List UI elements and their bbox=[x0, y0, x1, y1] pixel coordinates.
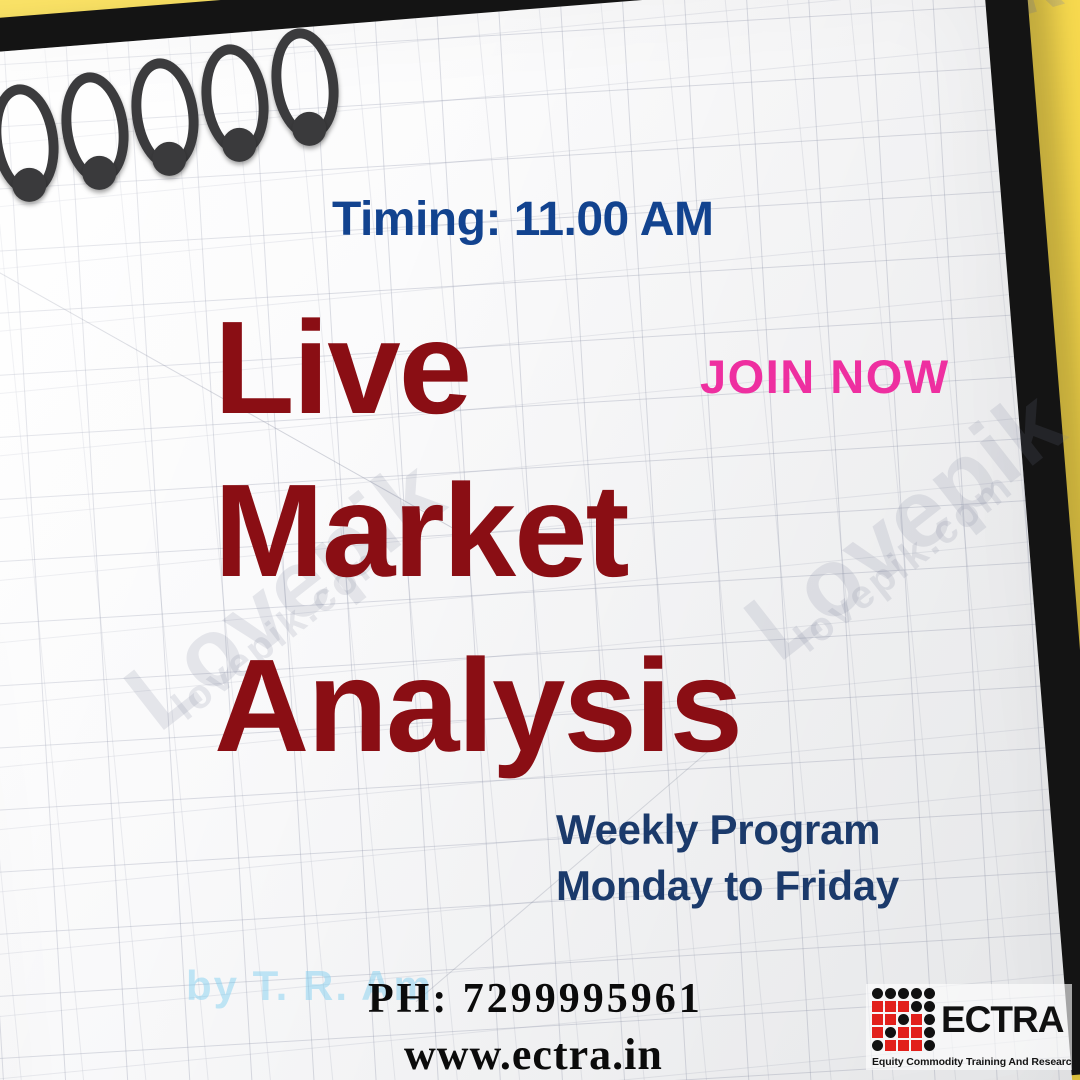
matrix-dot bbox=[924, 1001, 935, 1012]
matrix-dot bbox=[924, 1014, 935, 1025]
matrix-dot bbox=[898, 988, 909, 999]
matrix-square bbox=[872, 1001, 883, 1012]
matrix-square bbox=[898, 1040, 909, 1051]
matrix-square bbox=[911, 1014, 922, 1025]
ectra-logo: ECTRA Equity Commodity Training And Rese… bbox=[866, 984, 1072, 1070]
matrix-dot bbox=[911, 988, 922, 999]
logo-dot-matrix-icon bbox=[872, 988, 935, 1051]
matrix-square bbox=[885, 1040, 896, 1051]
matrix-square bbox=[911, 1040, 922, 1051]
logo-tagline: Equity Commodity Training And Research A… bbox=[872, 1056, 1066, 1068]
matrix-dot bbox=[885, 988, 896, 999]
website-url[interactable]: www.ectra.in bbox=[404, 1029, 663, 1080]
matrix-dot bbox=[898, 1014, 909, 1025]
headline-line-1: Live bbox=[214, 302, 470, 434]
matrix-dot bbox=[924, 1027, 935, 1038]
phone-number[interactable]: PH: 7299995961 bbox=[368, 975, 703, 1023]
headline-line-2: Market bbox=[214, 465, 628, 597]
matrix-dot bbox=[924, 1040, 935, 1051]
matrix-square bbox=[872, 1027, 883, 1038]
join-now-cta[interactable]: JOIN NOW bbox=[700, 349, 950, 404]
matrix-dot bbox=[872, 988, 883, 999]
matrix-square bbox=[898, 1027, 909, 1038]
matrix-dot bbox=[872, 1040, 883, 1051]
matrix-square bbox=[885, 1001, 896, 1012]
subtitle-line-2: Monday to Friday bbox=[556, 862, 899, 910]
logo-wordmark: ECTRA bbox=[941, 1001, 1063, 1038]
matrix-dot bbox=[885, 1027, 896, 1038]
timing-text: Timing: 11.00 AM bbox=[332, 192, 713, 247]
subtitle-line-1: Weekly Program bbox=[556, 806, 880, 854]
matrix-square bbox=[885, 1014, 896, 1025]
matrix-square bbox=[911, 1027, 922, 1038]
matrix-dot bbox=[911, 1001, 922, 1012]
matrix-square bbox=[898, 1001, 909, 1012]
headline-line-3: Analysis bbox=[214, 640, 741, 772]
matrix-dot bbox=[924, 988, 935, 999]
matrix-square bbox=[872, 1014, 883, 1025]
poster-canvas: Lovepik lovepik.com Lovepik ) + Lovepik bbox=[0, 0, 1080, 1080]
